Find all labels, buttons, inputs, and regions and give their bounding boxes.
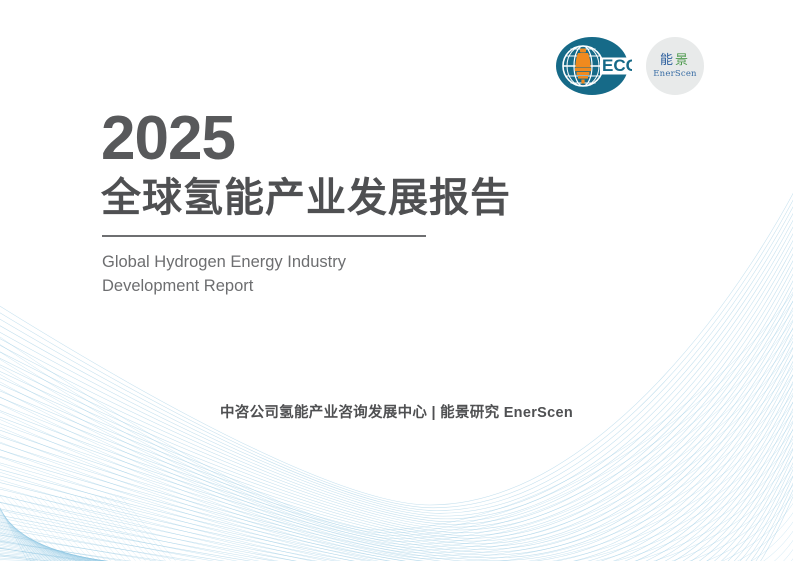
subtitle-line-1: Global Hydrogen Energy Industry xyxy=(102,251,621,275)
page-title: 全球氢能产业发展报告 xyxy=(101,176,621,221)
ecc-logo-text: ECC xyxy=(602,56,632,75)
enerscen-cn-second: 景 xyxy=(675,53,690,68)
enerscen-logo: 能景 EnerScen xyxy=(646,37,704,95)
subtitle-line-2: Development Report xyxy=(102,275,621,299)
title-divider xyxy=(102,235,426,237)
enerscen-cn-first: 能 xyxy=(660,53,675,68)
title-subtitle-en: Global Hydrogen Energy Industry Developm… xyxy=(102,251,621,299)
ecc-logo: ECC xyxy=(556,36,632,96)
logo-row: ECC 能景 EnerScen xyxy=(556,36,704,96)
enerscen-logo-cn: 能景 xyxy=(660,54,690,67)
cover-year: 2025 xyxy=(101,108,621,170)
attribution-line: 中咨公司氢能产业咨询发展中心 | 能景研究 EnerScen xyxy=(0,401,793,422)
title-block: 2025 全球氢能产业发展报告 Global Hydrogen Energy I… xyxy=(101,108,621,299)
report-cover-page: ECC 能景 EnerScen 2025 全球氢能产业发展报告 Global H… xyxy=(0,0,793,561)
enerscen-logo-en: EnerScen xyxy=(653,70,696,79)
